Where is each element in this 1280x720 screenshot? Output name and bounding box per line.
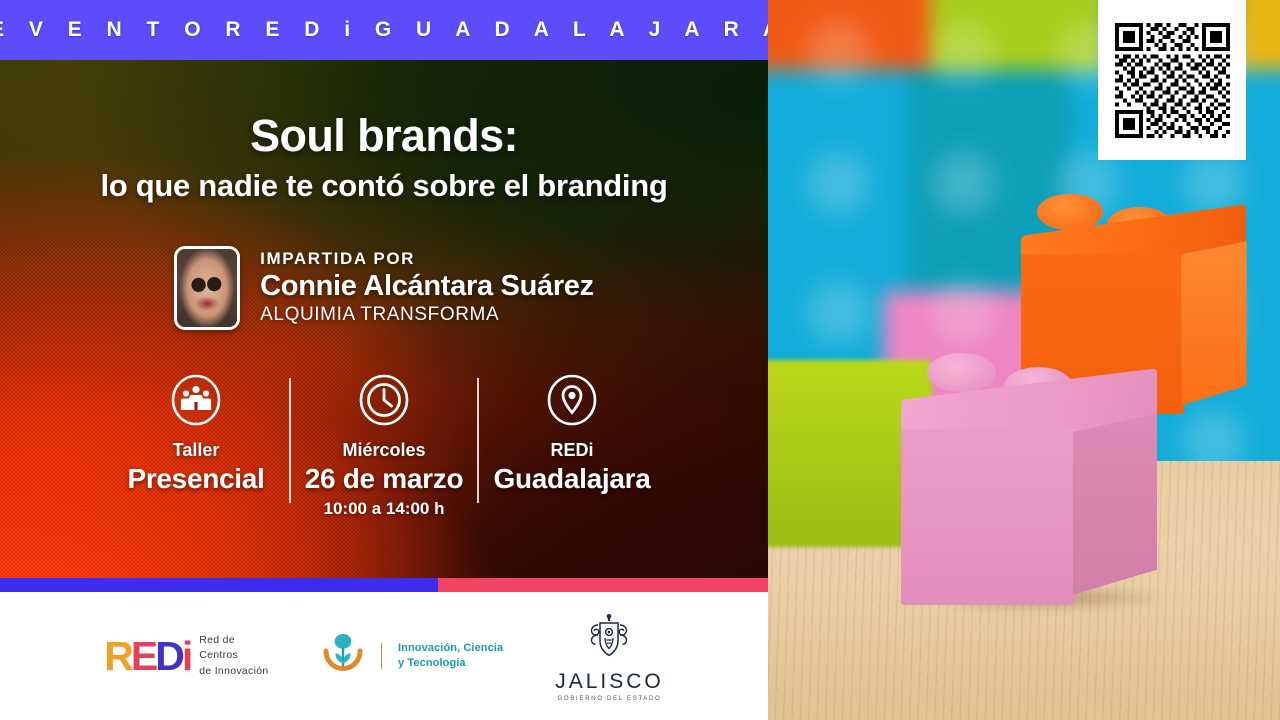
event-poster: E V E N T O R E D i G U A D A L A J A R … xyxy=(0,0,768,720)
redi-tagline-line-1: Red de xyxy=(199,633,268,648)
speaker-block: IMPARTIDA POR Connie Alcántara Suárez AL… xyxy=(174,246,594,330)
poster-body: Soul brands: lo que nadie te contó sobre… xyxy=(0,60,768,578)
jalisco-logo: JALISCO GOBIERNO DEL ESTADO xyxy=(555,610,664,702)
accent-bar-left xyxy=(0,578,438,592)
info-column-date: Miércoles 26 de marzo 10:00 a 14:00 h xyxy=(291,374,477,519)
innovacion-ciencia-tecnologia-logo: Innovación, Ciencia y Tecnología xyxy=(321,629,504,684)
location-pin-icon xyxy=(483,374,661,426)
redi-letter-i: i xyxy=(182,633,190,679)
logo-divider xyxy=(381,643,383,669)
qr-code-card[interactable] xyxy=(1098,0,1246,160)
accent-bar xyxy=(0,578,768,592)
accent-bar-right xyxy=(438,578,768,592)
page-title: Soul brands: xyxy=(0,112,768,159)
ict-tagline-line-1: Innovación, Ciencia xyxy=(398,641,503,656)
redi-letter-r: R xyxy=(104,633,131,679)
info-label-2: 26 de marzo xyxy=(295,463,473,494)
jalisco-subtitle: GOBIERNO DEL ESTADO xyxy=(555,695,664,702)
info-column-modality: Taller Presencial xyxy=(103,374,289,499)
lego-bricks-photo xyxy=(768,0,1280,720)
redi-letter-e: E xyxy=(131,633,155,679)
clock-icon xyxy=(295,374,473,426)
info-label-1: Miércoles xyxy=(295,441,473,461)
redi-tagline: Red de Centros de Innovación xyxy=(199,633,268,679)
page-subtitle: lo que nadie te contó sobre el branding xyxy=(0,168,768,204)
pink-brick xyxy=(901,360,1157,605)
info-columns: Taller Presencial Mié xyxy=(103,374,665,519)
speaker-name: Connie Alcántara Suárez xyxy=(260,271,594,302)
speaker-org: ALQUIMIA TRANSFORMA xyxy=(260,305,594,326)
jalisco-coat-of-arms-icon xyxy=(555,610,664,667)
ribbon-text: E V E N T O R E D i G U A D A L A J A R … xyxy=(0,18,768,42)
qr-code-icon[interactable] xyxy=(1115,23,1230,138)
speaker-portrait-icon xyxy=(177,249,237,327)
speaker-prefix: IMPARTIDA POR xyxy=(260,250,594,268)
event-ribbon: E V E N T O R E D i G U A D A L A J A R … xyxy=(0,0,768,60)
title-block: Soul brands: lo que nadie te contó sobre… xyxy=(0,112,768,204)
ict-tagline: Innovación, Ciencia y Tecnología xyxy=(398,641,503,671)
footer-logos: REDi Red de Centros de Innovación xyxy=(0,592,768,720)
info-column-location: REDi Guadalajara xyxy=(479,374,665,499)
info-label-1: Taller xyxy=(107,441,285,461)
redi-tagline-line-2: Centros xyxy=(199,648,268,663)
redi-letter-d: D xyxy=(155,633,182,679)
redi-logo: REDi Red de Centros de Innovación xyxy=(104,633,268,679)
info-label-3: 10:00 a 14:00 h xyxy=(295,499,473,519)
flower-hand-icon xyxy=(321,629,365,684)
info-label-2: Presencial xyxy=(107,463,285,494)
redi-tagline-line-3: de Innovación xyxy=(199,664,268,679)
people-group-icon xyxy=(107,374,285,426)
jalisco-title: JALISCO xyxy=(555,671,664,692)
ict-tagline-line-2: y Tecnología xyxy=(398,656,503,671)
poster-page: E V E N T O R E D i G U A D A L A J A R … xyxy=(0,0,1280,720)
avatar xyxy=(174,246,240,330)
info-label-2: Guadalajara xyxy=(483,463,661,494)
redi-wordmark: REDi xyxy=(104,636,190,677)
info-label-1: REDi xyxy=(483,441,661,461)
